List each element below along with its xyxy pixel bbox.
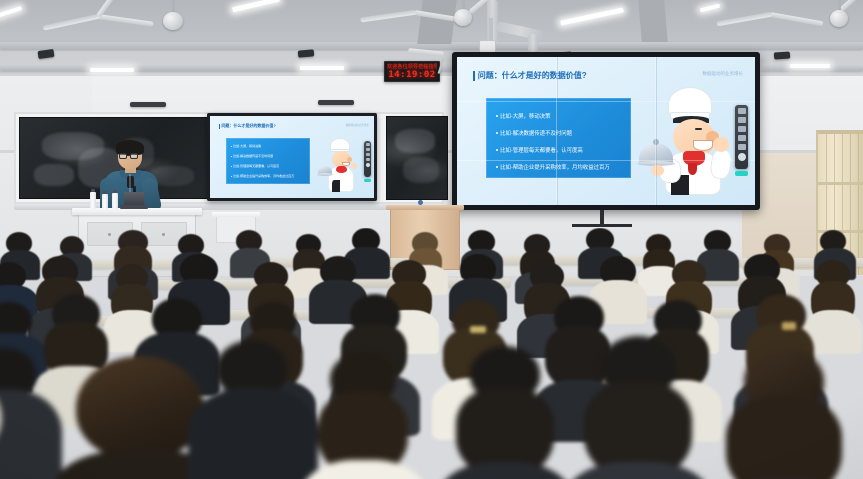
slide-bullet: 比如-管理层每天都要看，认可度高 bbox=[231, 164, 279, 168]
side-table-surface bbox=[212, 212, 260, 217]
slide-bullet: 比如-帮助企业提升采购效率，月均收益过百万 bbox=[496, 163, 610, 171]
toolbar-capture-icon[interactable] bbox=[738, 117, 746, 123]
slide-bullet: 比如-大屏，移动决策 bbox=[231, 144, 261, 148]
led-marquee-text: 欢迎各位领导莅临指导 bbox=[387, 63, 437, 70]
slide-title-secondary: 问题：什么才是好的数据价值? bbox=[219, 123, 276, 129]
hair-clip bbox=[782, 322, 796, 330]
video-wall-seam bbox=[457, 101, 755, 102]
toolbar-pen-icon[interactable] bbox=[738, 126, 746, 132]
slide-bullet: 比如-解决数据传递不及时问题 bbox=[231, 154, 273, 158]
slide-title-main: 问题：什么才是好的数据价值? bbox=[473, 70, 587, 81]
water-bottle bbox=[90, 192, 96, 209]
wall-speaker bbox=[774, 51, 790, 59]
toolbar-button[interactable] bbox=[366, 143, 370, 146]
video-wall-seam bbox=[457, 160, 755, 161]
slide-bullet: 比如-帮助企业提升采购效率，月均收益过百万 bbox=[231, 174, 294, 178]
led-time: 14:19:02 bbox=[385, 70, 439, 80]
chef-illustration-secondary bbox=[318, 138, 364, 192]
chalkboard-right bbox=[386, 116, 448, 200]
video-wall-display[interactable]: 问题：什么才是好的数据价值? 数据驱动的业务增长 比如-大屏，移动决策 比如-解… bbox=[452, 52, 760, 210]
display-mount-base bbox=[572, 224, 632, 227]
fluorescent-tube bbox=[300, 66, 344, 70]
water-bottle bbox=[102, 194, 108, 209]
bullet-dot bbox=[231, 166, 232, 167]
bullet-dot bbox=[496, 149, 498, 151]
bullet-text: 比如-管理层每天都要看，认可度高 bbox=[233, 164, 279, 168]
bullet-dot bbox=[496, 166, 498, 168]
lecture-hall-photo: 欢迎各位领导莅临指导 14:19:02 问题：什么才是好的数据价值? 数据驱动的… bbox=[0, 0, 863, 479]
toolbar-button[interactable] bbox=[366, 158, 370, 161]
slide-secondary: 问题：什么才是好的数据价值? 数据驱动的业务增长 比如-大屏，移动决策 比如-解… bbox=[210, 116, 374, 198]
laptop-base bbox=[120, 205, 148, 209]
slide-content-box-secondary: 比如-大屏，移动决策 比如-解决数据传递不及时问题 比如-管理层每天都要看，认可… bbox=[226, 138, 310, 184]
toolbar-eraser-icon[interactable] bbox=[738, 135, 746, 141]
bullet-text: 比如-管理层每天都要看，认可度高 bbox=[500, 146, 583, 154]
eyeglasses-icon bbox=[130, 153, 138, 159]
toolbar-button[interactable] bbox=[366, 148, 370, 151]
toolbar-menu-icon[interactable] bbox=[738, 144, 746, 150]
slide-bullet: 比如-大屏，移动决策 bbox=[496, 112, 550, 120]
bottle-cap bbox=[91, 189, 95, 192]
wall-heater bbox=[318, 100, 354, 105]
bullet-text: 比如-大屏，移动决策 bbox=[500, 112, 550, 120]
toolbar-accent[interactable] bbox=[364, 179, 371, 182]
water-bottle bbox=[112, 193, 118, 209]
bullet-text: 比如-大屏，移动决策 bbox=[233, 144, 261, 148]
screen-toolbar-secondary[interactable] bbox=[364, 141, 371, 177]
bottle-cap bbox=[103, 191, 107, 194]
fluorescent-tube bbox=[90, 68, 134, 72]
bullet-dot bbox=[231, 176, 232, 177]
wall-speaker bbox=[38, 49, 55, 59]
slide-bullet: 比如-管理层每天都要看，认可度高 bbox=[496, 146, 583, 154]
screen-toolbar[interactable] bbox=[735, 105, 748, 169]
bullet-text: 比如-帮助企业提升采购效率，月均收益过百万 bbox=[233, 174, 294, 178]
toolbar-home-icon[interactable] bbox=[738, 153, 746, 161]
bullet-dot bbox=[496, 132, 498, 134]
bullet-text: 比如-解决数据传递不及时问题 bbox=[500, 129, 572, 137]
toolbar-button[interactable] bbox=[366, 153, 370, 156]
led-clock-display: 欢迎各位领导莅临指导 14:19:02 bbox=[384, 61, 440, 82]
slide-watermark-secondary: 数据驱动的业务增长 bbox=[346, 123, 369, 127]
bottle-cap bbox=[113, 190, 117, 193]
video-wall-seam bbox=[656, 57, 657, 205]
bullet-dot bbox=[496, 115, 498, 117]
wall-speaker bbox=[298, 49, 315, 57]
ceiling-fan-blade bbox=[408, 48, 444, 57]
toolbar-accent-bar[interactable] bbox=[735, 171, 748, 176]
title-accent-bar bbox=[473, 71, 475, 81]
slide-title-text: 问题：什么才是好的数据价值? bbox=[221, 123, 275, 129]
title-accent-bar bbox=[219, 124, 220, 129]
lectern-item bbox=[418, 200, 423, 205]
slide-content-box: 比如-大屏，移动决策 比如-解决数据传递不及时问题 比如-管理层每天都要看，认可… bbox=[486, 98, 631, 178]
interactive-whiteboard[interactable]: 问题：什么才是好的数据价值? 数据驱动的业务增长 比如-大屏，移动决策 比如-解… bbox=[207, 113, 377, 201]
slide-watermark: 数据驱动的业务增长 bbox=[703, 71, 744, 77]
wall-heater bbox=[130, 102, 166, 107]
toolbar-annotate-icon[interactable] bbox=[738, 108, 746, 114]
laptop-screen bbox=[124, 192, 144, 206]
bullet-text: 比如-帮助企业提升采购效率，月均收益过百万 bbox=[500, 163, 610, 171]
audience bbox=[0, 228, 863, 479]
eyeglasses-icon bbox=[119, 153, 127, 159]
toolbar-home-button[interactable] bbox=[366, 163, 370, 167]
slide-main: 问题：什么才是好的数据价值? 数据驱动的业务增长 比如-大屏，移动决策 比如-解… bbox=[457, 57, 755, 205]
hair-clip bbox=[470, 326, 486, 333]
bullet-text: 比如-解决数据传递不及时问题 bbox=[233, 154, 273, 158]
slide-title-text: 问题：什么才是好的数据价值? bbox=[478, 70, 587, 81]
slide-bullet: 比如-解决数据传递不及时问题 bbox=[496, 129, 572, 137]
video-wall-seam bbox=[557, 57, 558, 205]
bullet-dot bbox=[231, 156, 232, 157]
bullet-dot bbox=[231, 146, 232, 147]
lectern-surface bbox=[386, 205, 464, 210]
podium-surface bbox=[72, 208, 202, 215]
fluorescent-tube bbox=[790, 64, 830, 68]
